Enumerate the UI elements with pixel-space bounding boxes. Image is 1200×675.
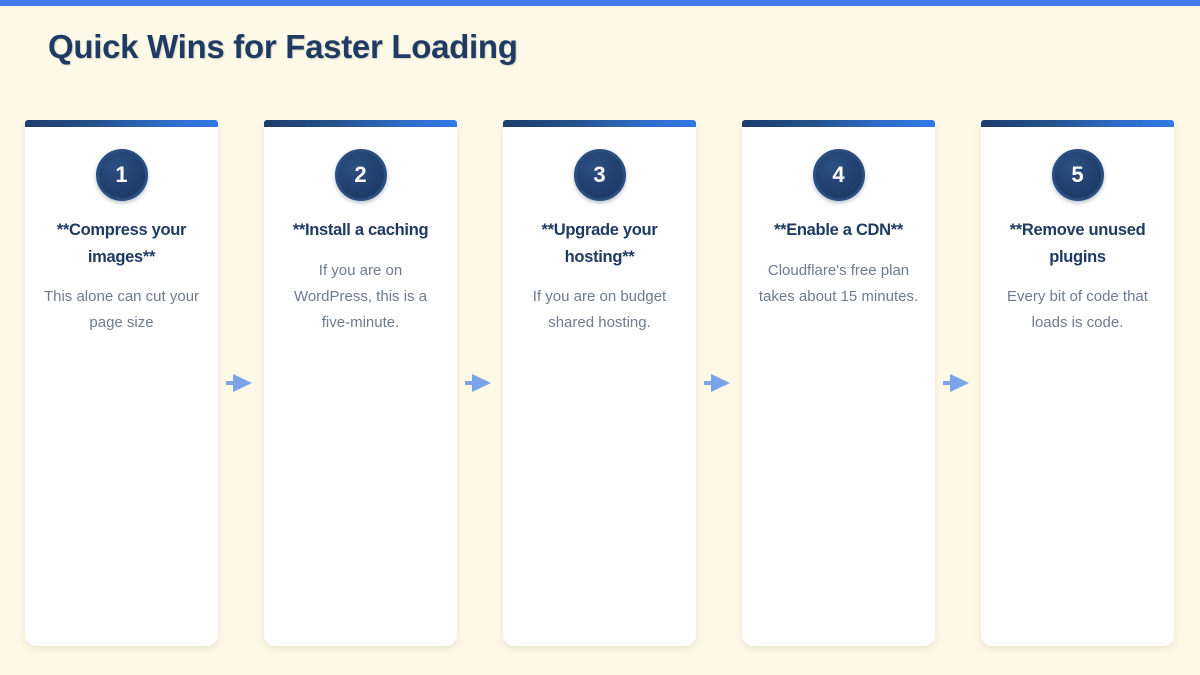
- step-heading: **Upgrade your hosting**: [520, 217, 680, 270]
- step-card-5[interactable]: 5 **Remove unused plugins Every bit of c…: [981, 120, 1174, 646]
- arrow-right-icon: [704, 371, 734, 395]
- step-body: This alone can cut your page size: [42, 284, 202, 336]
- step-number-badge: 3: [574, 149, 626, 201]
- connector-arrow-2: [457, 120, 503, 646]
- step-card-1[interactable]: 1 **Compress your images** This alone ca…: [25, 120, 218, 646]
- page-title: Quick Wins for Faster Loading: [48, 28, 518, 66]
- top-accent-bar: [0, 0, 1200, 6]
- connector-arrow-4: [935, 120, 981, 646]
- card-accent-bar: [25, 120, 218, 127]
- step-card-4[interactable]: 4 **Enable a CDN** Cloudflare's free pla…: [742, 120, 935, 646]
- step-body: Cloudflare's free plan takes about 15 mi…: [759, 258, 919, 310]
- step-body: Every bit of code that loads is code.: [998, 284, 1158, 336]
- step-heading: **Remove unused plugins: [998, 217, 1158, 270]
- arrow-right-icon: [226, 371, 256, 395]
- step-number-badge: 1: [96, 149, 148, 201]
- step-number-badge: 4: [813, 149, 865, 201]
- card-accent-bar: [503, 120, 696, 127]
- step-card-3[interactable]: 3 **Upgrade your hosting** If you are on…: [503, 120, 696, 646]
- step-body: If you are on WordPress, this is a five-…: [281, 258, 441, 336]
- step-number-badge: 5: [1052, 149, 1104, 201]
- step-card-2[interactable]: 2 **Install a caching If you are on Word…: [264, 120, 457, 646]
- card-accent-bar: [742, 120, 935, 127]
- steps-row: 1 **Compress your images** This alone ca…: [25, 120, 1175, 646]
- step-heading: **Compress your images**: [42, 217, 202, 270]
- step-heading: **Install a caching: [281, 217, 441, 244]
- step-number-badge: 2: [335, 149, 387, 201]
- connector-arrow-1: [218, 120, 264, 646]
- card-accent-bar: [264, 120, 457, 127]
- arrow-right-icon: [465, 371, 495, 395]
- step-body: If you are on budget shared hosting.: [520, 284, 680, 336]
- step-heading: **Enable a CDN**: [759, 217, 919, 244]
- card-accent-bar: [981, 120, 1174, 127]
- connector-arrow-3: [696, 120, 742, 646]
- arrow-right-icon: [943, 371, 973, 395]
